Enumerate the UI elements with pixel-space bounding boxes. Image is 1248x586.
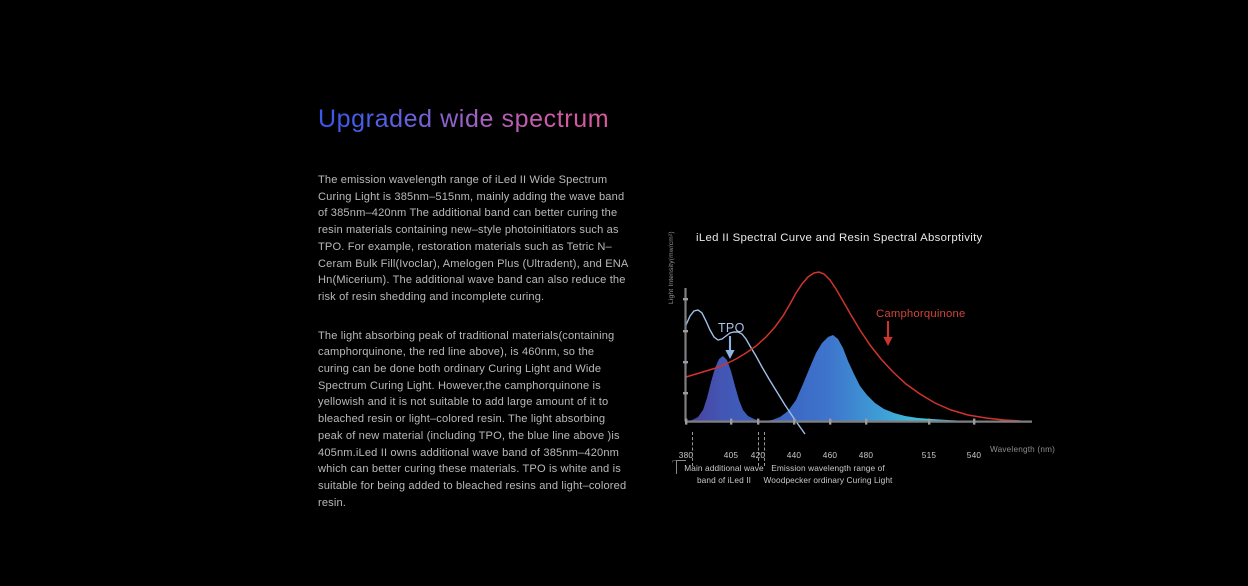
range-divider-420 bbox=[758, 432, 759, 466]
page-title: Upgraded wide spectrum bbox=[318, 104, 628, 134]
y-axis-label: Light Intensity(mw/cm²) bbox=[668, 231, 675, 304]
x-axis-tick bbox=[730, 419, 732, 425]
x-axis-tick bbox=[865, 419, 867, 425]
x-axis-tick bbox=[685, 419, 687, 425]
y-axis-tick bbox=[683, 392, 688, 394]
tpo-annotation-label: TPO bbox=[718, 321, 745, 335]
paragraph-1: The emission wavelength range of iLed II… bbox=[318, 172, 628, 306]
range-divider-385 bbox=[692, 432, 693, 466]
camphorquinone-annotation-label: Camphorquinone bbox=[876, 308, 965, 320]
caption-emission-range: Emission wavelength range of Woodpecker … bbox=[763, 463, 893, 486]
x-tick-label: 480 bbox=[859, 450, 873, 460]
y-axis-tick bbox=[683, 361, 688, 363]
text-column: Upgraded wide spectrum The emission wave… bbox=[318, 104, 628, 533]
chart-title: iLed II Spectral Curve and Resin Spectra… bbox=[696, 232, 983, 244]
page-root: Upgraded wide spectrum The emission wave… bbox=[0, 0, 1248, 586]
x-axis-tick bbox=[928, 419, 930, 425]
y-axis-tick bbox=[683, 330, 688, 332]
x-axis-label: Wavelength (nm) bbox=[990, 445, 1055, 454]
x-tick-label: 440 bbox=[787, 450, 801, 460]
camphorquinone-arrow-icon bbox=[883, 321, 892, 346]
chart-plot-area: TPO Camphorquinone Light Intensity(mw/cm… bbox=[672, 260, 1092, 475]
x-tick-label: 515 bbox=[922, 450, 936, 460]
caption-main-additional-band: Main additional wave band of iLed II bbox=[676, 463, 772, 486]
range-divider-420b bbox=[764, 432, 765, 466]
x-axis-tick bbox=[829, 419, 831, 425]
x-axis-tick bbox=[757, 419, 759, 425]
paragraph-2: The light absorbing peak of traditional … bbox=[318, 328, 628, 512]
x-axis-tick bbox=[973, 419, 975, 425]
x-axis-tick bbox=[793, 419, 795, 425]
emission-area-peak1 bbox=[686, 356, 767, 421]
spectral-chart: iLed II Spectral Curve and Resin Spectra… bbox=[672, 232, 1092, 482]
tpo-arrow-icon bbox=[725, 336, 734, 359]
x-tick-label: 405 bbox=[724, 450, 738, 460]
y-axis-tick bbox=[683, 298, 688, 300]
emission-area-peak2 bbox=[764, 335, 992, 421]
x-tick-label: 460 bbox=[823, 450, 837, 460]
chart-svg bbox=[672, 260, 1092, 475]
x-tick-label: 540 bbox=[967, 450, 981, 460]
